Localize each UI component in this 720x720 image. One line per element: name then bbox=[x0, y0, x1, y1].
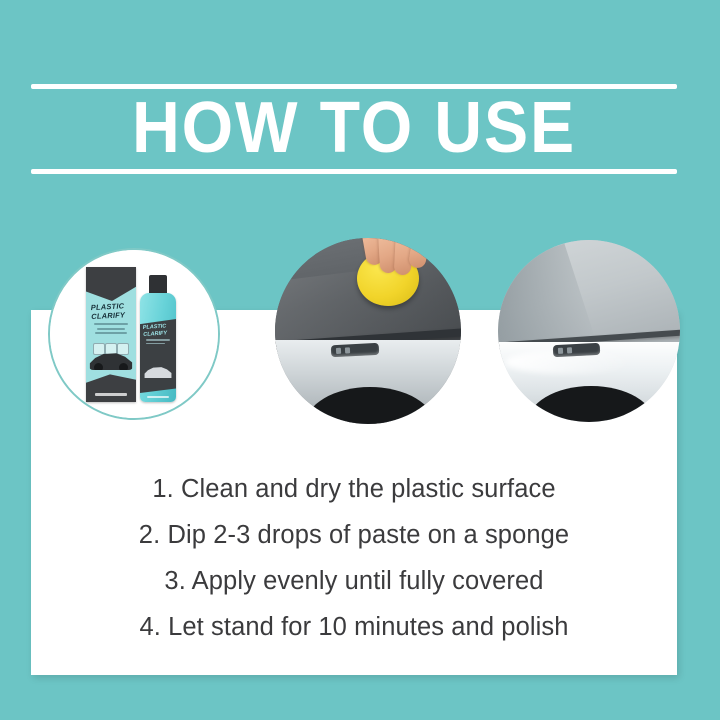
finger bbox=[361, 238, 384, 266]
finger bbox=[378, 238, 397, 273]
instruction-list: 1. Clean and dry the plastic surface 2. … bbox=[31, 466, 677, 650]
yellow-sponge bbox=[357, 251, 419, 306]
instruction-step-1: 1. Clean and dry the plastic surface bbox=[31, 466, 677, 512]
carton-top-accent bbox=[86, 267, 136, 301]
finger bbox=[408, 238, 431, 269]
how-to-use-infographic: HOW TO USE PLASTIC CLARIFY bbox=[0, 0, 720, 720]
header-block: HOW TO USE bbox=[31, 84, 677, 184]
hand bbox=[364, 238, 436, 285]
header-rule-bottom bbox=[31, 169, 677, 174]
instruction-step-2: 2. Dip 2-3 drops of paste on a sponge bbox=[31, 512, 677, 558]
bottle-cap bbox=[149, 275, 167, 295]
instruction-step-4: 4. Let stand for 10 minutes and polish bbox=[31, 604, 677, 650]
finger bbox=[394, 238, 413, 275]
page-title: HOW TO USE bbox=[57, 88, 651, 168]
instruction-step-3: 3. Apply evenly until fully covered bbox=[31, 558, 677, 604]
